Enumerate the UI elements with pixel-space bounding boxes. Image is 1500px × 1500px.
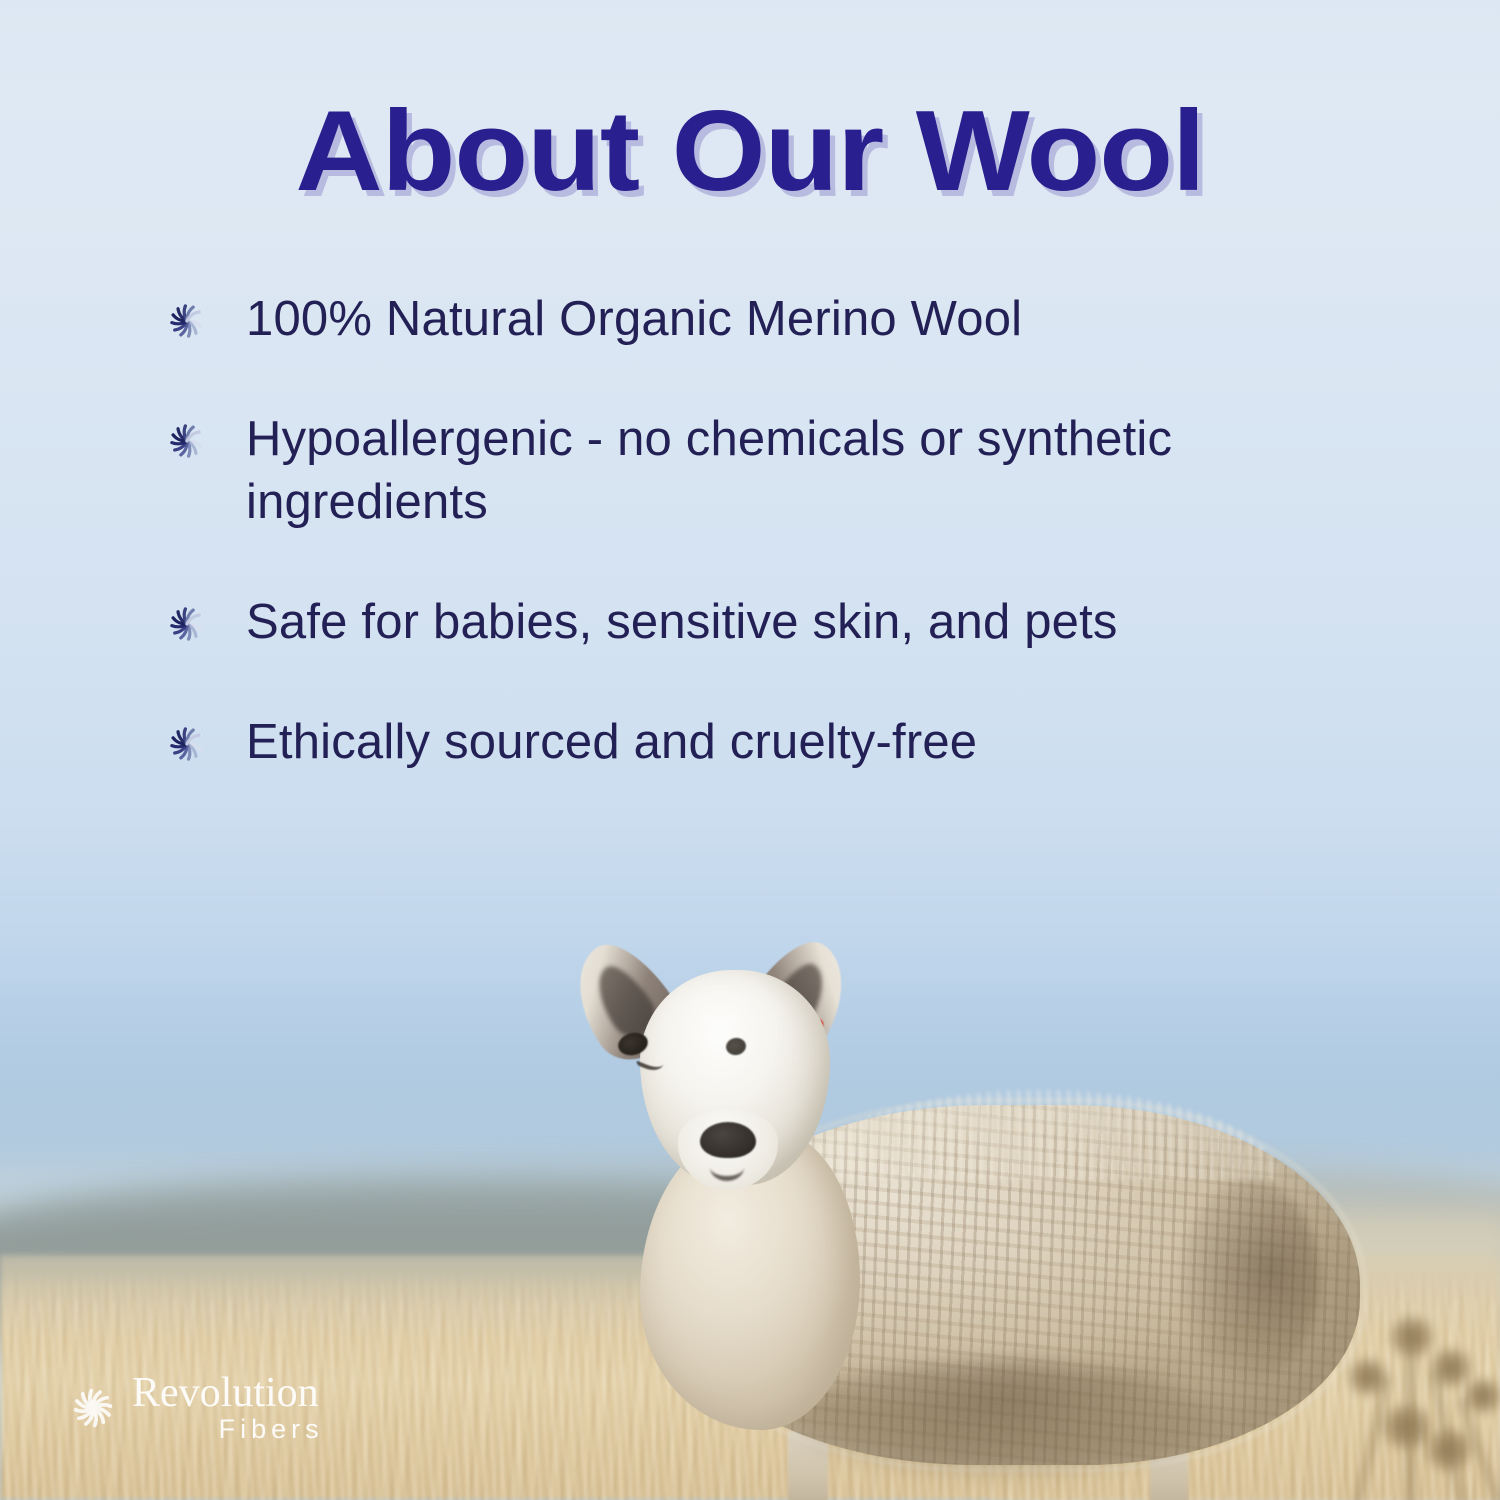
feature-list: 100% Natural Organic Merino Wool xyxy=(160,288,1340,830)
list-item-label: Safe for babies, sensitive skin, and pet… xyxy=(246,591,1118,655)
page-title: About Our Wool xyxy=(0,92,1500,212)
list-item: Safe for babies, sensitive skin, and pet… xyxy=(160,591,1340,655)
fiber-spiral-icon xyxy=(160,294,214,348)
logo-wordmark: Revolution Fibers xyxy=(132,1372,319,1443)
wool-infographic: About Our Wool xyxy=(0,0,1500,1500)
list-item: 100% Natural Organic Merino Wool xyxy=(160,288,1340,352)
fiber-spiral-icon xyxy=(160,597,214,651)
sheep-mouth xyxy=(710,1154,744,1181)
list-item-label: Ethically sourced and cruelty-free xyxy=(246,711,977,775)
sheep-rump-shadow xyxy=(1180,1180,1320,1380)
sheep-photo xyxy=(560,930,1380,1500)
list-item-label: 100% Natural Organic Merino Wool xyxy=(246,288,1022,352)
sheep-nose xyxy=(700,1122,756,1158)
list-item: Ethically sourced and cruelty-free xyxy=(160,711,1340,775)
fiber-spiral-icon xyxy=(160,414,214,468)
logo-secondary-text: Fibers xyxy=(219,1416,324,1443)
fiber-spiral-icon xyxy=(160,717,214,771)
sheep-fleece-highlight xyxy=(800,1090,1280,1180)
sheep-belly-shadow xyxy=(790,1360,1210,1480)
brand-logo: Revolution Fibers xyxy=(62,1372,319,1443)
list-item: Hypoallergenic - no chemicals or synthet… xyxy=(160,408,1340,535)
list-item-label: Hypoallergenic - no chemicals or synthet… xyxy=(246,408,1316,535)
logo-primary-text: Revolution xyxy=(132,1372,319,1414)
fiber-spiral-icon xyxy=(62,1377,124,1439)
